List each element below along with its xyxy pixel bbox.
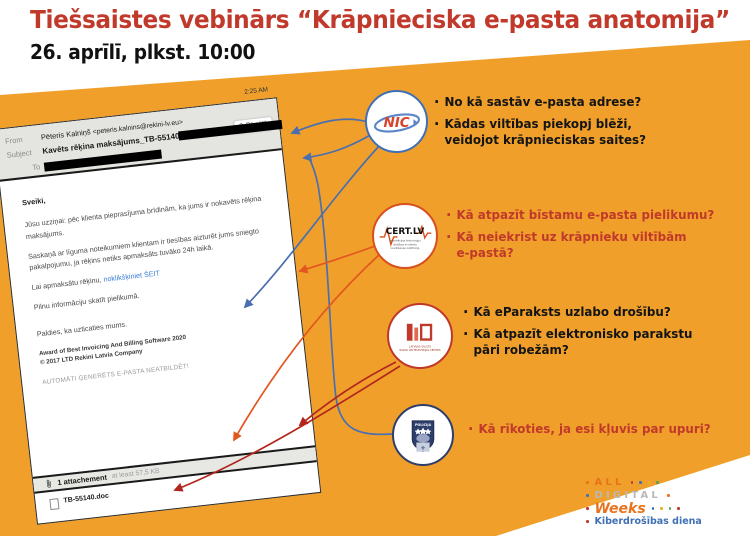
adw-subtitle-text: Kiberdrošības diena [595, 516, 702, 527]
subject-label: Subject [6, 147, 43, 160]
attachment-count: 1 attachement [57, 473, 107, 487]
question-block-2: Kā atpazīt bīstamu e-pasta pielikumu? Kā… [446, 207, 728, 261]
pay-invoice-text: Lai apmaksātu rēķinu, [31, 275, 104, 292]
police-logo: POLICIJA ⚜ [398, 410, 448, 460]
question-line: Kā rīkoties, ja esi kļuvis par upuri? [468, 421, 711, 437]
nic-logo: NIC [368, 93, 426, 151]
page-subtitle: 26. aprīlī, plkst. 10:00 [30, 40, 681, 64]
question-line: Kā neiekrist uz krāpnieku viltībām [446, 229, 714, 245]
redaction-bar-subject [178, 120, 282, 141]
adw-dot [667, 494, 670, 497]
cert-lv-logo: CERT.LV Informācijas tehnoloģiju drošība… [374, 205, 436, 267]
page-title: Tiešsaistes vebinārs “Krāpnieciska e-pas… [30, 6, 681, 35]
adw-dot [648, 481, 651, 484]
phishing-link[interactable]: noklikšķiniet ŠEIT [103, 269, 160, 284]
svg-text:⚜: ⚜ [420, 445, 425, 452]
document-icon [49, 498, 59, 510]
question-line: Kādas viltības piekopj blēži, [434, 116, 646, 132]
cert-lv-logo-bubble: CERT.LV Informācijas tehnoloģiju drošība… [372, 203, 438, 269]
svg-text:drošības incidentu: drošības incidentu [393, 242, 417, 246]
adw-dot [660, 507, 663, 510]
adw-dot [631, 481, 634, 484]
adw-dot [586, 494, 589, 497]
adw-dot [677, 507, 680, 510]
header: Tiešsaistes vebinārs “Krāpnieciska e-pas… [30, 6, 730, 64]
question-line: Kā atpazīt elektronisko parakstu [463, 326, 693, 342]
question-block-3: Kā eParaksts uzlabo drošību? Kā atpazīt … [463, 304, 705, 358]
adw-dot [586, 507, 589, 510]
adw-dot [639, 481, 642, 484]
all-digital-weeks-logo: ALL DIGITAL Weeks Kiberdrošības diena [586, 476, 702, 528]
adw-line-3: Weeks [586, 502, 702, 515]
email-body: Sveiki, Jūsu uzziņai: pēc klienta piepra… [0, 152, 314, 466]
svg-text:LATVIJAS VALSTS: LATVIJAS VALSTS [409, 344, 431, 348]
lvrtc-logo: LATVIJAS VALSTS RADIO UN TELEVĪZIJAS CEN… [389, 305, 451, 367]
svg-text:NIC: NIC [383, 114, 409, 130]
attachment-file-name: TB-55140.doc [63, 493, 109, 505]
from-label: From [5, 133, 42, 146]
question-line: pāri robežām? [463, 342, 693, 358]
police-logo-bubble: POLICIJA ⚜ [392, 404, 454, 466]
svg-text:Informācijas tehnoloģiju: Informācijas tehnoloģiju [389, 239, 421, 243]
from-name: Pēteris Kalniņš [40, 127, 91, 142]
question-line: Kā eParaksts uzlabo drošību? [463, 304, 693, 320]
adw-weeks-text: Weeks [595, 501, 646, 517]
to-label: To [8, 162, 45, 175]
adw-all-text: ALL [595, 477, 625, 488]
lvrtc-logo-bubble: LATVIJAS VALSTS RADIO UN TELEVĪZIJAS CEN… [387, 303, 453, 369]
question-line: veidojot krāpnieciskas saites? [434, 132, 646, 148]
question-line: No kā sastāv e-pasta adrese? [434, 94, 646, 110]
adw-dot [586, 520, 589, 523]
adw-digital-text: DIGITAL [595, 490, 662, 501]
adw-dot [656, 481, 659, 484]
adw-dot [586, 481, 589, 484]
attachment-size: at least 57,5 KB [111, 468, 159, 480]
nic-logo-bubble: NIC [365, 90, 428, 153]
adw-line-4: Kiberdrošības diena [586, 515, 702, 528]
adw-line-1: ALL [586, 476, 702, 489]
question-line: e-pastā? [446, 245, 714, 261]
svg-text:novēršanas institūcija: novēršanas institūcija [391, 246, 420, 250]
question-block-1: No kā sastāv e-pasta adrese? Kādas viltī… [434, 94, 657, 148]
email-card: 2:25 AM ↷Pārsūtīt FromPēteris Kalniņš <p… [0, 97, 321, 524]
poster-root: Tiešsaistes vebinārs “Krāpnieciska e-pas… [0, 0, 750, 536]
adw-dot [652, 507, 655, 510]
paperclip-icon [45, 479, 53, 489]
question-line: Kā atpazīt bīstamu e-pasta pielikumu? [446, 207, 714, 223]
svg-text:CERT.LV: CERT.LV [386, 227, 425, 237]
phishing-email-mockup: 2:25 AM ↷Pārsūtīt FromPēteris Kalniņš <p… [0, 97, 321, 524]
svg-text:POLICIJA: POLICIJA [415, 423, 432, 427]
adw-dot [669, 507, 672, 510]
question-block-4: Kā rīkoties, ja esi kļuvis par upuri? [468, 421, 723, 437]
